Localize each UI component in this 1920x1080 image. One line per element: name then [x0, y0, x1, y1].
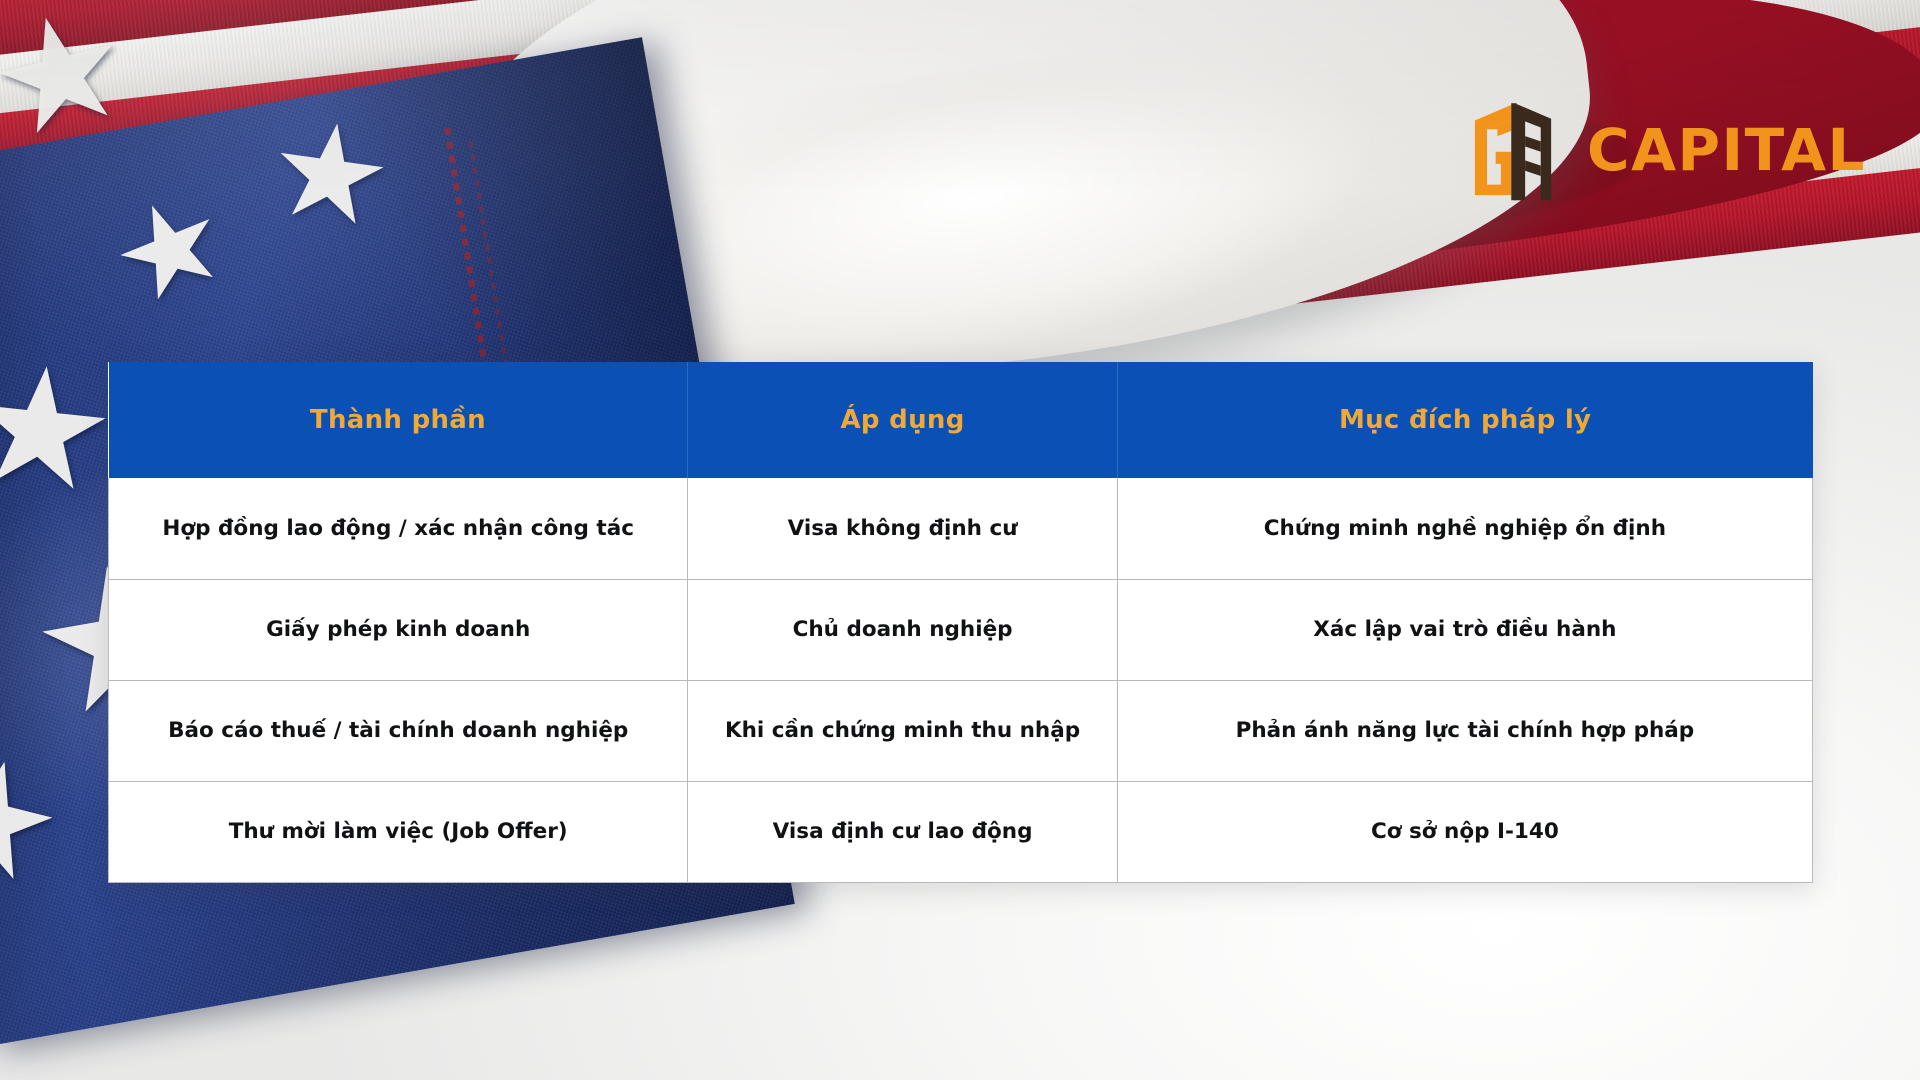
- table-body: Hợp đồng lao động / xác nhận công tác Vi…: [109, 478, 1813, 882]
- cell-component: Báo cáo thuế / tài chính doanh nghiệp: [109, 680, 688, 781]
- brand-logo[interactable]: CAPITAL: [1461, 98, 1866, 202]
- table-header-row: Thành phần Áp dụng Mục đích pháp lý: [109, 362, 1813, 478]
- table-row: Thư mời làm việc (Job Offer) Visa định c…: [109, 781, 1813, 882]
- requirements-table-container: Thành phần Áp dụng Mục đích pháp lý Hợp …: [108, 362, 1813, 883]
- requirements-table: Thành phần Áp dụng Mục đích pháp lý Hợp …: [108, 362, 1813, 883]
- cell-application: Chủ doanh nghiệp: [688, 579, 1117, 680]
- table-row: Hợp đồng lao động / xác nhận công tác Vi…: [109, 478, 1813, 579]
- column-header-application: Áp dụng: [688, 362, 1117, 478]
- table-row: Báo cáo thuế / tài chính doanh nghiệp Kh…: [109, 680, 1813, 781]
- table-header: Thành phần Áp dụng Mục đích pháp lý: [109, 362, 1813, 478]
- slide-canvas: CAPITAL Thành phần Áp dụng Mục đích pháp…: [0, 0, 1920, 1080]
- cell-legal-purpose: Phản ánh năng lực tài chính hợp pháp: [1117, 680, 1812, 781]
- table-row: Giấy phép kinh doanh Chủ doanh nghiệp Xá…: [109, 579, 1813, 680]
- column-header-legal-purpose: Mục đích pháp lý: [1117, 362, 1812, 478]
- cell-legal-purpose: Chứng minh nghề nghiệp ổn định: [1117, 478, 1812, 579]
- cell-component: Hợp đồng lao động / xác nhận công tác: [109, 478, 688, 579]
- cell-legal-purpose: Cơ sở nộp I-140: [1117, 781, 1812, 882]
- cell-component: Thư mời làm việc (Job Offer): [109, 781, 688, 882]
- brand-wordmark: CAPITAL: [1587, 121, 1866, 179]
- cell-application: Khi cần chứng minh thu nhập: [688, 680, 1117, 781]
- column-header-component: Thành phần: [109, 362, 688, 478]
- cell-legal-purpose: Xác lập vai trò điều hành: [1117, 579, 1812, 680]
- cell-application: Visa không định cư: [688, 478, 1117, 579]
- ga-building-logo-icon: [1461, 98, 1565, 202]
- cell-application: Visa định cư lao động: [688, 781, 1117, 882]
- cell-component: Giấy phép kinh doanh: [109, 579, 688, 680]
